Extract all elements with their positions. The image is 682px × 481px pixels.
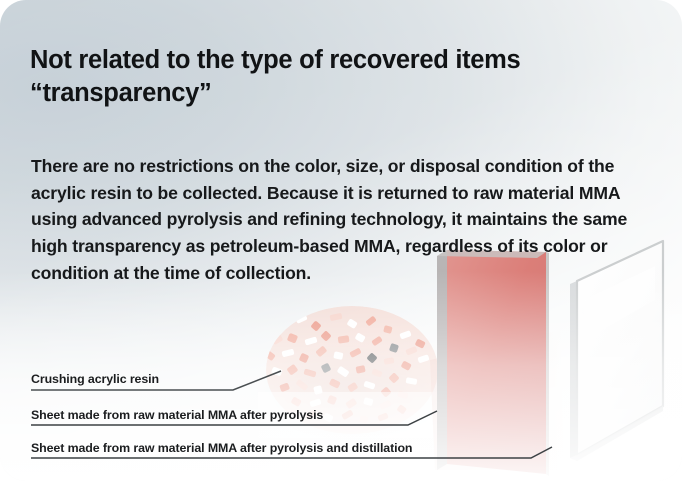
slide-root: Not related to the type of recovered ite… (0, 0, 682, 481)
leader-line-sheet-after-pyrolysis-distillation (31, 447, 552, 458)
leader-line-crushing-acrylic-resin (31, 371, 281, 390)
leader-lines (0, 0, 682, 481)
leader-line-sheet-after-pyrolysis (31, 411, 437, 425)
content-layer: Not related to the type of recovered ite… (0, 0, 682, 481)
